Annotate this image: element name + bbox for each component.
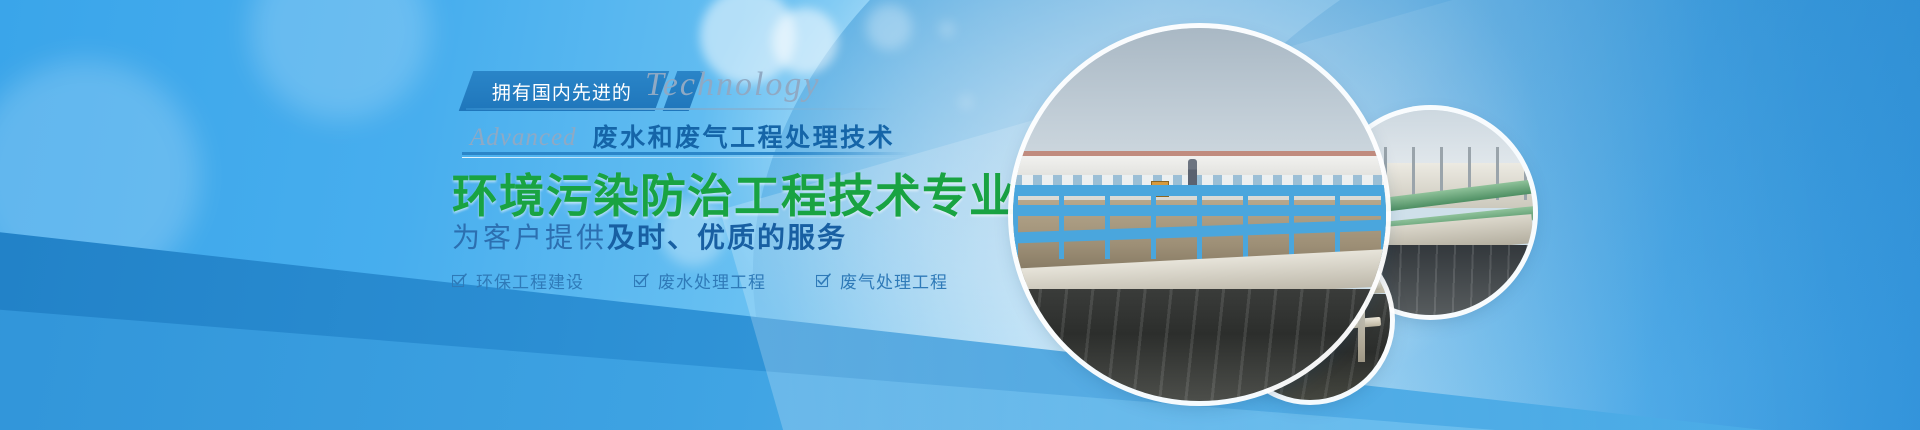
feature-item-label: 废水处理工程 <box>658 268 766 293</box>
feature-item-0[interactable]: 环保工程建设 <box>452 268 584 293</box>
service-line-prefix: 为客户提供 <box>452 222 607 253</box>
subtitle-chinese: 废水和废气工程处理技术 <box>593 118 896 154</box>
banner-copy: 拥有国内先进的 Technology Advanced 废水和废气工程处理技术 … <box>0 0 1030 430</box>
feature-item-1[interactable]: 废水处理工程 <box>634 268 766 293</box>
feature-list: 环保工程建设 废水处理工程 废气处理工程 <box>452 268 948 293</box>
technology-script-word: Technology <box>645 66 821 104</box>
hero-banner: 拥有国内先进的 Technology Advanced 废水和废气工程处理技术 … <box>0 0 1920 430</box>
divider-upper <box>466 108 898 110</box>
photo-wastewater-treatment-plant-aerial <box>1013 28 1386 401</box>
feature-item-label: 环保工程建设 <box>476 268 584 293</box>
check-box-icon <box>634 273 649 288</box>
feature-item-label: 废气处理工程 <box>840 268 948 293</box>
subtitle-row: Advanced 废水和废气工程处理技术 <box>470 118 895 154</box>
check-box-icon <box>816 273 831 288</box>
service-line: 为客户提供及时、优质的服务 <box>452 216 847 256</box>
check-box-icon <box>452 273 467 288</box>
advanced-script-word: Advanced <box>470 124 577 154</box>
service-line-emphasis: 及时、优质的服务 <box>607 222 847 253</box>
eyebrow-tag-label: 拥有国内先进的 <box>492 78 632 105</box>
eyebrow-tag-body: 拥有国内先进的 <box>459 71 670 111</box>
divider-lower-highlight <box>462 157 910 158</box>
feature-item-2[interactable]: 废气处理工程 <box>816 268 948 293</box>
divider-lower <box>462 152 910 155</box>
